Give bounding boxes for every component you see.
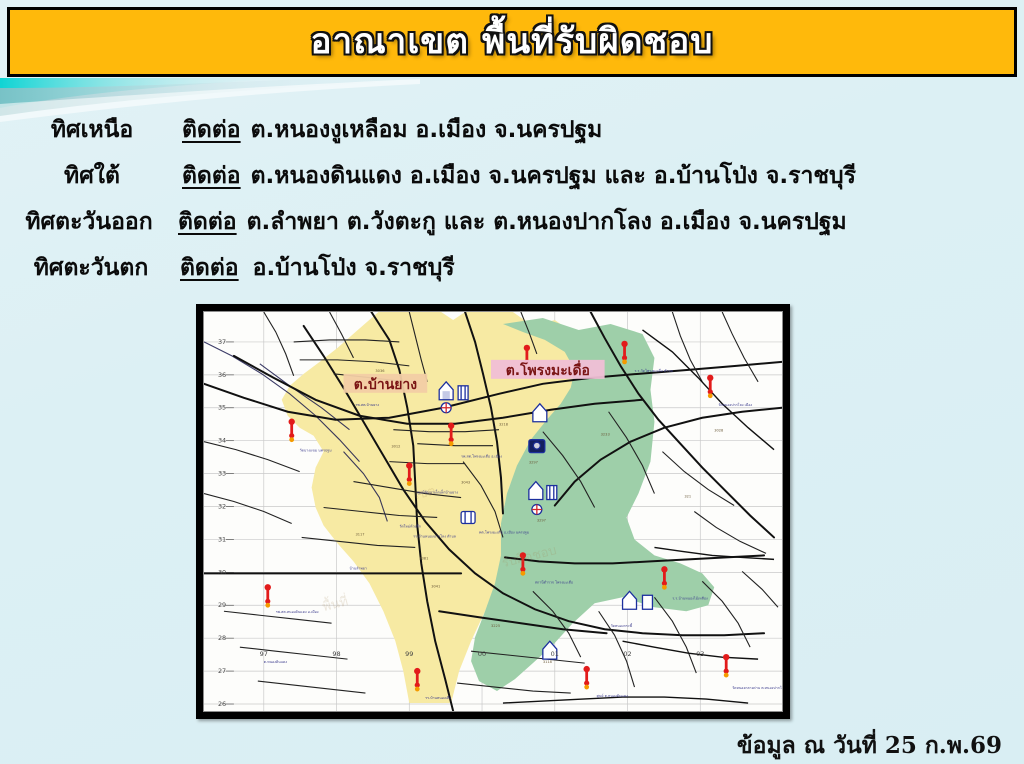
map-label-phrong-maduea: ต.โพรงมะเดื่อ bbox=[491, 360, 605, 379]
direction-row-east: ทิศตะวันออก ติดต่อ ต.ลำพยา ต.วังตะกู และ… bbox=[0, 204, 1024, 250]
footer-note: ข้อมูล ณ วันที่ 25 ก.พ.69 bbox=[737, 728, 1002, 764]
svg-text:วัดหนองกลางด่าน ต.หนองปากโลง: วัดหนองกลางด่าน ต.หนองปากโลง bbox=[732, 685, 782, 690]
direction-contact-west: ติดต่อ bbox=[180, 250, 253, 286]
svg-text:ศูนย์ ต.หนองดินแดง: ศูนย์ ต.หนองดินแดง bbox=[597, 694, 628, 698]
map-label-ban-yang-text: ต.บ้านยาง bbox=[354, 377, 418, 393]
svg-text:30: 30 bbox=[218, 568, 226, 576]
direction-value-east: ต.ลำพยา ต.วังตะกู และ ต.หนองปากโลง อ.เมื… bbox=[247, 204, 1024, 240]
svg-text:32: 32 bbox=[218, 503, 226, 511]
map-image[interactable]: วัดบางแขม นครปฐม ศูนย์พัฒนาเด็กเล็กบ้านย… bbox=[203, 311, 783, 712]
direction-contact-south: ติดต่อ bbox=[182, 158, 251, 194]
svg-text:36: 36 bbox=[218, 371, 226, 379]
directions-list: ทิศเหนือ ติดต่อ ต.หนองงูเหลือม อ.เมือง จ… bbox=[0, 112, 1024, 296]
map-label-ban-yang: ต.บ้านยาง bbox=[344, 374, 428, 393]
svg-text:วัดใหม่ห้วยลึก: วัดใหม่ห้วยลึก bbox=[399, 523, 421, 528]
svg-text:รร.บ้านหนองเสือ: รร.บ้านหนองเสือ bbox=[425, 695, 451, 700]
svg-text:34: 34 bbox=[218, 437, 226, 445]
svg-text:รพ.สต.หนองดินแดง อ.เมือง: รพ.สต.หนองดินแดง อ.เมือง bbox=[276, 609, 319, 614]
svg-text:28: 28 bbox=[218, 634, 226, 642]
svg-text:3028: 3028 bbox=[714, 429, 724, 433]
direction-value-south: ต.หนองดินแดง อ.เมือง จ.นครปฐม และ อ.บ้าน… bbox=[251, 158, 1024, 194]
svg-text:3012: 3012 bbox=[391, 445, 400, 449]
direction-row-west: ทิศตะวันตก ติดต่อ อ.บ้านโป่ง จ.ราชบุรี bbox=[0, 250, 1024, 296]
svg-text:00: 00 bbox=[478, 650, 486, 658]
direction-row-north: ทิศเหนือ ติดต่อ ต.หนองงูเหลือม อ.เมือง จ… bbox=[0, 112, 1024, 158]
direction-contact-east: ติดต่อ bbox=[178, 204, 247, 240]
direction-label-west: ทิศตะวันตก bbox=[0, 250, 180, 286]
svg-text:สถานีตำรวจ โพรงมะเดื่อ: สถานีตำรวจ โพรงมะเดื่อ bbox=[535, 579, 573, 584]
svg-text:321: 321 bbox=[684, 495, 691, 499]
map-label-phrong-maduea-text: ต.โพรงมะเดื่อ bbox=[506, 360, 590, 379]
svg-text:99: 99 bbox=[405, 650, 413, 658]
direction-label-south: ทิศใต้ bbox=[0, 158, 182, 194]
svg-text:3043: 3043 bbox=[461, 481, 470, 485]
svg-text:บ้านลำพยา: บ้านลำพยา bbox=[349, 565, 366, 570]
svg-text:รร.บ้านหนองปากโลง ตำบล: รร.บ้านหนองปากโลง ตำบล bbox=[413, 533, 456, 538]
svg-text:รพ.สต.โพรงมะเดื่อ อ.เมือง: รพ.สต.โพรงมะเดื่อ อ.เมือง bbox=[461, 454, 502, 459]
svg-text:02: 02 bbox=[623, 650, 631, 658]
svg-text:3041: 3041 bbox=[431, 584, 440, 588]
svg-text:29: 29 bbox=[218, 601, 226, 609]
svg-text:ทต.โพรงมะเดื่อ อ.เมือง นครปฐม: ทต.โพรงมะเดื่อ อ.เมือง นครปฐม bbox=[479, 529, 530, 534]
svg-text:3117: 3117 bbox=[355, 532, 364, 536]
svg-text:37: 37 bbox=[218, 338, 226, 346]
svg-text:98: 98 bbox=[332, 650, 340, 658]
page-title: อาณาเขต พื้นที่รับผิดชอบ bbox=[311, 25, 714, 60]
svg-text:3036: 3036 bbox=[375, 369, 385, 373]
svg-text:27: 27 bbox=[218, 667, 226, 675]
svg-text:รพ.สต.บ้านยาง: รพ.สต.บ้านยาง bbox=[355, 402, 379, 407]
svg-text:03: 03 bbox=[696, 650, 704, 658]
svg-text:3225: 3225 bbox=[491, 624, 500, 628]
svg-text:01: 01 bbox=[551, 650, 559, 658]
direction-label-north: ทิศเหนือ bbox=[0, 112, 182, 148]
svg-text:วัดบางแขม นครปฐม: วัดบางแขม นครปฐม bbox=[300, 449, 333, 453]
direction-row-south: ทิศใต้ ติดต่อ ต.หนองดินแดง อ.เมือง จ.นคร… bbox=[0, 158, 1024, 204]
svg-text:3118: 3118 bbox=[543, 660, 553, 664]
map-svg: วัดบางแขม นครปฐม ศูนย์พัฒนาเด็กเล็กบ้านย… bbox=[204, 312, 782, 711]
svg-text:ร.ร.บ้านหนองไม้เหลือง: ร.ร.บ้านหนองไม้เหลือง bbox=[672, 595, 708, 600]
svg-text:3218: 3218 bbox=[499, 423, 509, 427]
svg-text:35: 35 bbox=[218, 404, 226, 412]
svg-text:วัดหนองปากโลง เมือง: วัดหนองปากโลง เมือง bbox=[718, 402, 752, 407]
direction-label-east: ทิศตะวันออก bbox=[0, 204, 178, 240]
svg-text:3297: 3297 bbox=[537, 518, 546, 522]
direction-value-north: ต.หนองงูเหลือม อ.เมือง จ.นครปฐม bbox=[251, 112, 1024, 148]
title-banner: อาณาเขต พื้นที่รับผิดชอบ bbox=[7, 7, 1017, 77]
svg-text:วัดหนองกระพี้: วัดหนองกระพี้ bbox=[611, 623, 633, 628]
svg-text:97: 97 bbox=[260, 650, 268, 658]
svg-text:3297: 3297 bbox=[529, 461, 538, 465]
svg-text:3233: 3233 bbox=[601, 433, 610, 437]
svg-text:33: 33 bbox=[218, 470, 226, 478]
svg-text:3381: 3381 bbox=[419, 556, 428, 560]
map-frame: วัดบางแขม นครปฐม ศูนย์พัฒนาเด็กเล็กบ้านย… bbox=[196, 304, 790, 719]
svg-text:31: 31 bbox=[218, 535, 226, 543]
direction-contact-north: ติดต่อ bbox=[182, 112, 251, 148]
svg-text:ร.ร.วัดโพรงมะเดื่อ ตำบล: ร.ร.วัดโพรงมะเดื่อ ตำบล bbox=[635, 368, 673, 373]
svg-text:26: 26 bbox=[218, 700, 226, 708]
svg-text:ต.หนองดินแดง: ต.หนองดินแดง bbox=[264, 660, 288, 664]
direction-value-west: อ.บ้านโป่ง จ.ราชบุรี bbox=[253, 250, 1024, 286]
